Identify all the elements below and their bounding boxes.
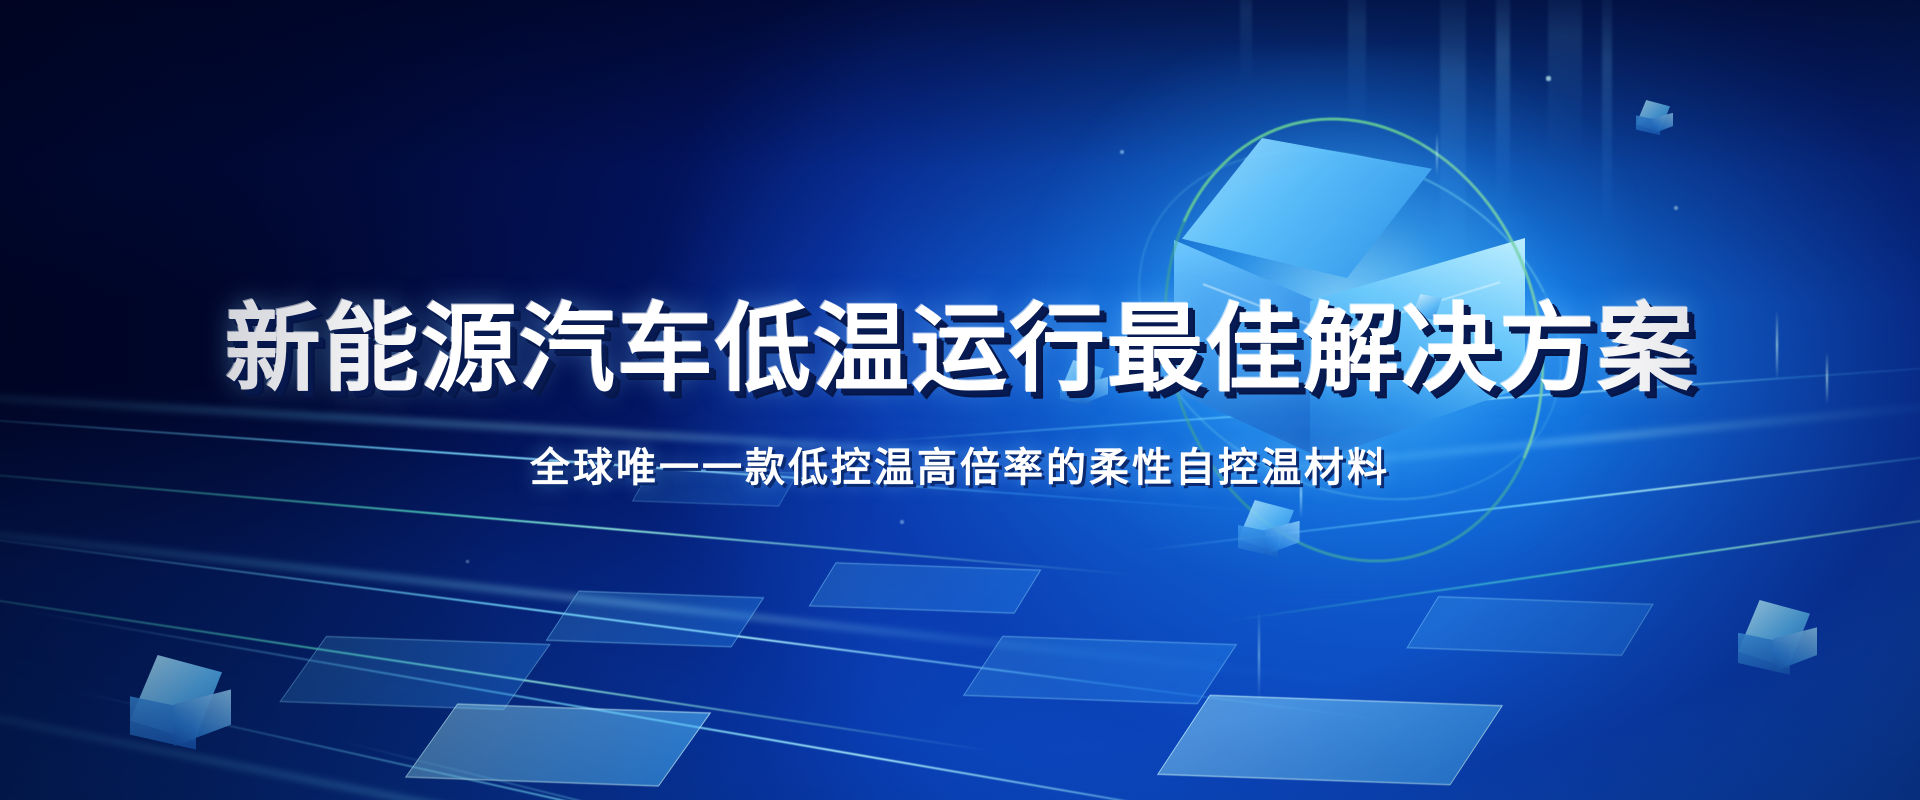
spark-icon bbox=[1300, 470, 1302, 518]
spark-icon bbox=[1120, 150, 1124, 154]
spark-icon bbox=[1546, 76, 1551, 81]
spark-icon bbox=[466, 560, 469, 563]
floor-panel bbox=[279, 636, 550, 710]
spark-icon bbox=[1674, 206, 1678, 210]
floating-cube-icon bbox=[1060, 360, 1104, 402]
floor-panel bbox=[809, 562, 1042, 613]
spark-icon bbox=[1826, 352, 1828, 404]
floating-cube-icon bbox=[1738, 600, 1810, 668]
floor-panel bbox=[632, 467, 798, 506]
floating-cube-icon bbox=[1238, 500, 1294, 552]
spark-icon bbox=[900, 520, 904, 524]
floating-cube-icon bbox=[130, 655, 222, 741]
floor-panel bbox=[546, 591, 765, 648]
spark-icon bbox=[1776, 310, 1778, 380]
light-streak bbox=[0, 461, 1133, 576]
floor-panel bbox=[1406, 596, 1653, 656]
floating-cube-icon bbox=[1636, 100, 1670, 132]
spark-icon bbox=[1436, 132, 1438, 176]
light-streak bbox=[514, 789, 1760, 800]
spark-icon bbox=[1258, 610, 1260, 700]
central-cube-graphic bbox=[1120, 120, 1540, 500]
floor-panel bbox=[1157, 695, 1503, 785]
floor-panel bbox=[405, 703, 711, 786]
floor-panel bbox=[963, 636, 1237, 704]
hero-banner: 新能源汽车低温运行最佳解决方案 全球唯一一款低控温高倍率的柔性自控温材料 bbox=[0, 0, 1920, 800]
